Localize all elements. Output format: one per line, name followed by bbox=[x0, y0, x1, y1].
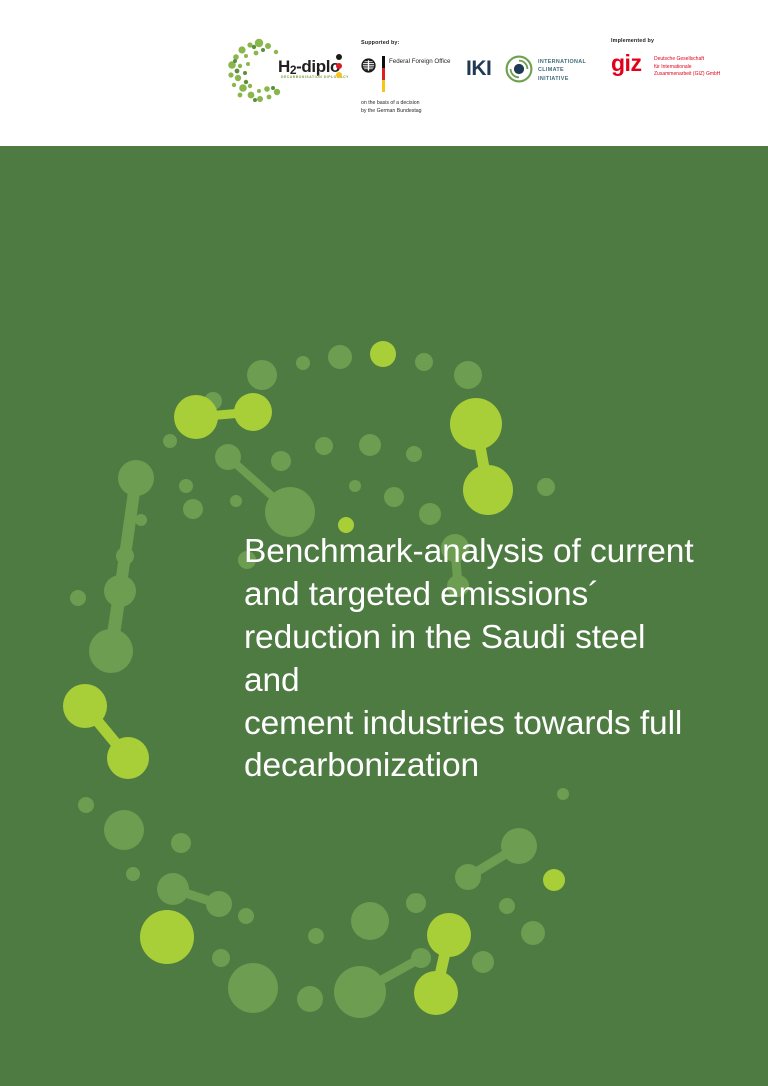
bundesadler-eagle-icon bbox=[361, 58, 376, 73]
federal-foreign-office-logo: Supported by: Federal Foreign Office bbox=[361, 40, 461, 130]
h2diplo-logo: H2-diplo DECARBONISATION DIPLOMACY bbox=[226, 38, 344, 104]
supported-by-label: Supported by: bbox=[361, 40, 399, 46]
german-flag-dots-icon bbox=[336, 54, 344, 84]
h2diplo-wordmark-h: H bbox=[278, 57, 290, 76]
page-title: Benchmark-analysis of current and target… bbox=[244, 531, 696, 788]
cover-background: Benchmark-analysis of current and target… bbox=[0, 146, 768, 1086]
iki-acronym: IKI bbox=[466, 58, 491, 79]
logo-header-band: H2-diplo DECARBONISATION DIPLOMACY Suppo… bbox=[0, 0, 768, 146]
iki-logo: IKI INTERNATIONAL CLIMATE INITIATIVE bbox=[466, 52, 596, 92]
iki-circle-icon bbox=[505, 55, 533, 83]
giz-logo: Implemented by giz Deutsche Gesellschaft… bbox=[611, 38, 736, 86]
ffo-organisation-name: Federal Foreign Office bbox=[389, 58, 450, 65]
bundestag-decision-note: on the basis of a decision by the German… bbox=[361, 100, 422, 115]
giz-wordmark: giz bbox=[611, 52, 641, 75]
h2diplo-wordmark-diplo: -diplo bbox=[296, 57, 340, 76]
german-flag-bar-icon bbox=[382, 56, 385, 92]
implemented-by-label: Implemented by bbox=[611, 38, 654, 44]
cover-page: H2-diplo DECARBONISATION DIPLOMACY Suppo… bbox=[0, 0, 768, 1086]
giz-full-name: Deutsche Gesellschaft für Internationale… bbox=[654, 56, 720, 79]
iki-full-name: INTERNATIONAL CLIMATE INITIATIVE bbox=[538, 58, 586, 83]
